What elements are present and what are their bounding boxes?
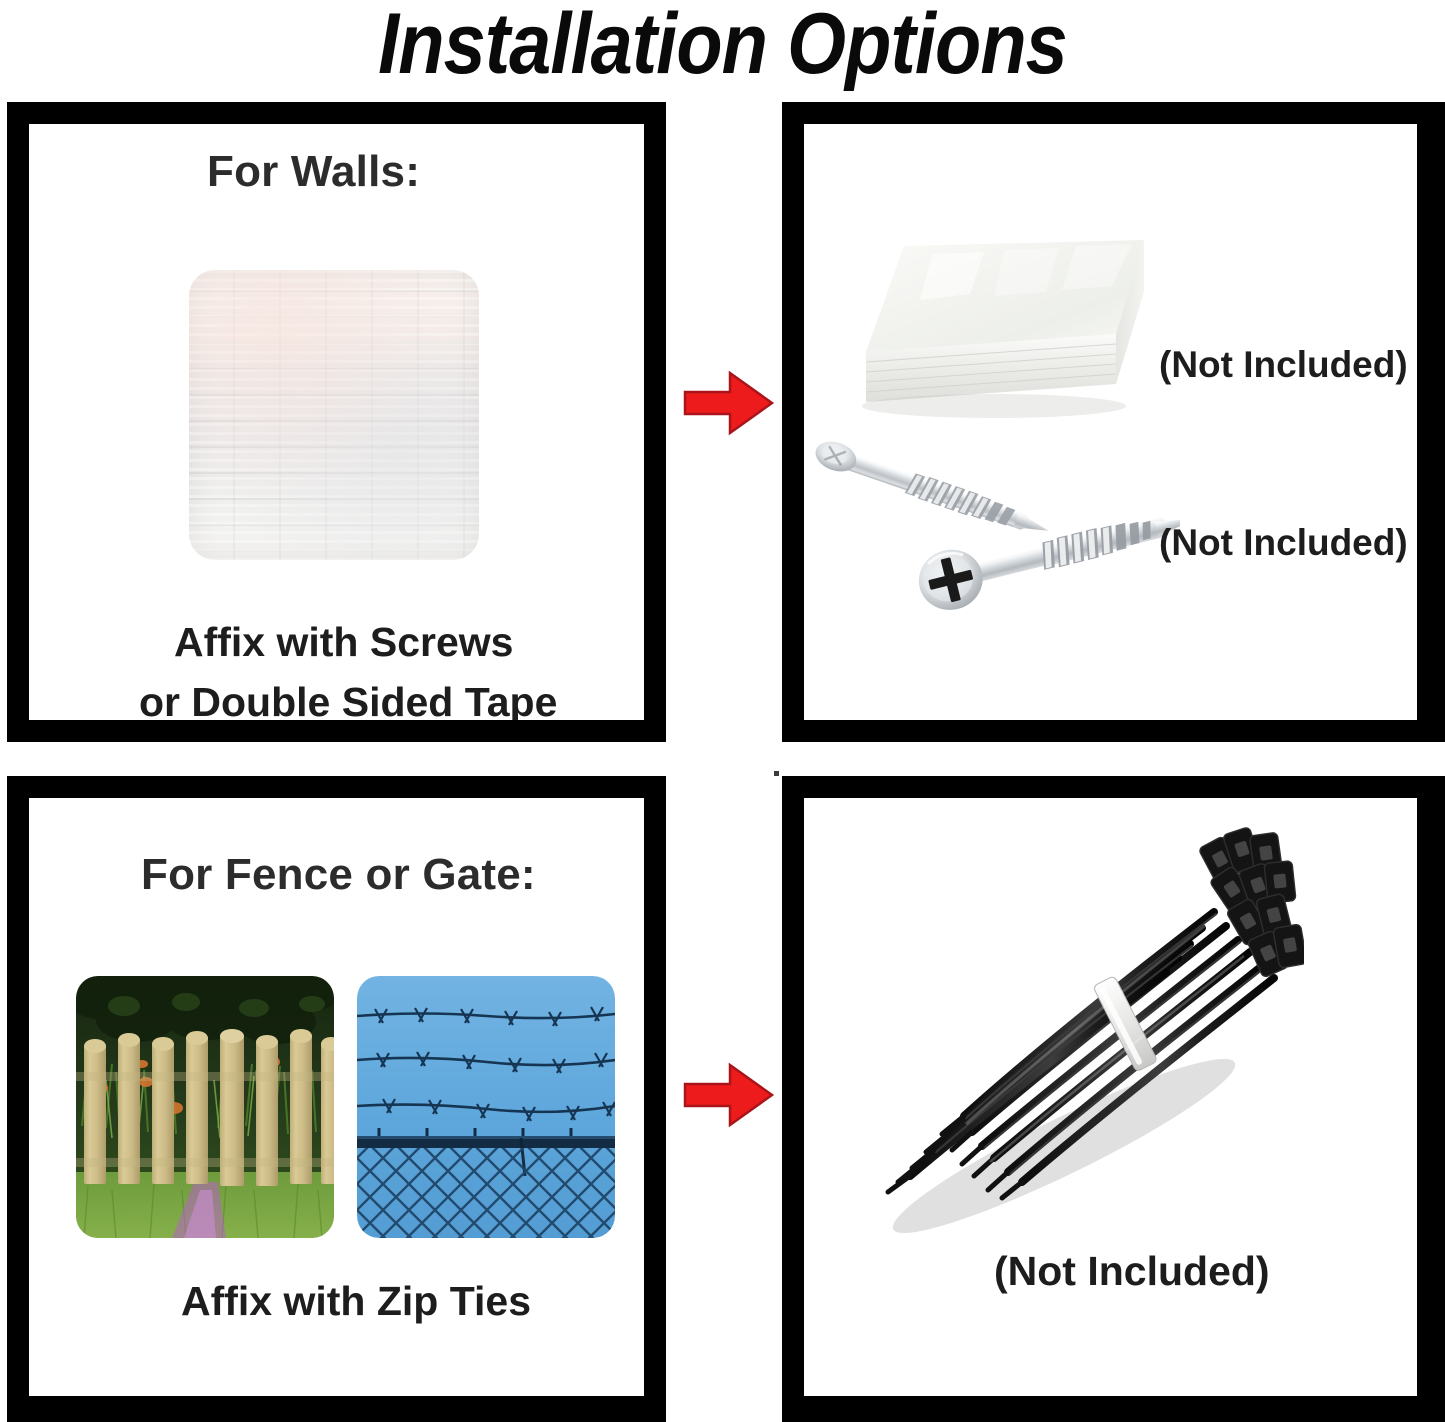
- chain-link-barbed-wire-fence-photo: [357, 976, 615, 1238]
- installation-options-infographic: Installation Options For Walls: Affix wi…: [0, 0, 1445, 1422]
- panel-for-walls-heading: For Walls:: [207, 147, 420, 197]
- panel-wall-hardware: (Not Included): [782, 102, 1445, 742]
- panel-for-walls: For Walls: Affix with Screws or Double S…: [7, 102, 666, 742]
- panel-for-fence-caption: Affix with Zip Ties: [181, 1273, 531, 1330]
- tape-not-included-label: (Not Included): [1159, 344, 1408, 386]
- panel-fence-hardware-content: (Not Included): [804, 798, 1417, 1396]
- white-brick-wall-swatch: [189, 270, 479, 560]
- double-sided-tape-pads-icon: [844, 234, 1174, 424]
- panel-for-fence-or-gate: For Fence or Gate:: [7, 776, 666, 1422]
- screws-not-included-label: (Not Included): [1159, 522, 1408, 564]
- panel-for-fence-content: For Fence or Gate:: [29, 798, 644, 1396]
- wooden-picket-fence-photo: [76, 976, 334, 1238]
- black-zip-ties-bundle-icon: [814, 816, 1304, 1236]
- image-artifact-dot: [774, 771, 779, 776]
- arrow-right-icon-top: [683, 370, 775, 436]
- wood-screws-icon: [810, 424, 1180, 624]
- arrow-right-icon-bottom: [683, 1062, 775, 1128]
- panel-wall-hardware-content: (Not Included): [804, 124, 1417, 720]
- panel-for-walls-caption-line2: or Double Sided Tape: [139, 674, 557, 720]
- panel-fence-hardware: (Not Included): [782, 776, 1445, 1422]
- ziptie-not-included-label: (Not Included): [994, 1248, 1270, 1295]
- panel-for-fence-heading: For Fence or Gate:: [141, 850, 536, 900]
- panel-for-walls-caption-line1: Affix with Screws: [174, 614, 513, 671]
- panel-for-walls-content: For Walls: Affix with Screws or Double S…: [29, 124, 644, 720]
- page-title: Installation Options: [87, 0, 1359, 94]
